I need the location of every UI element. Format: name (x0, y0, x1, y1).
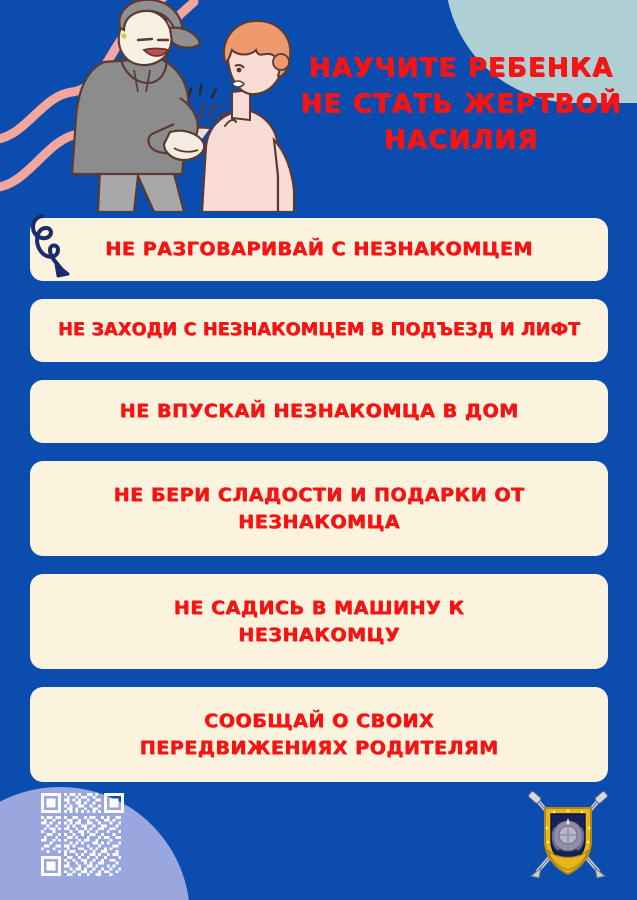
title-line-2: НЕ СТАТЬ ЖЕРТВОЙ (296, 86, 626, 122)
rule-1-line-1: НЕ РАЗГОВАРИВАЙ С НЕЗНАКОМЦЕМ (105, 236, 533, 263)
safety-poster: НАУЧИТЕ РЕБЕНКА НЕ СТАТЬ ЖЕРТВОЙ НАСИЛИЯ… (0, 0, 637, 900)
pink-wave-decoration (0, 0, 220, 215)
rule-6-line-1: СООБЩАЙ О СВОИХ (140, 708, 499, 735)
rule-5-line-1: НЕ САДИСЬ В МАШИНУ К (174, 595, 465, 622)
rule-card-3[interactable]: НЕ ВПУСКАЙ НЕЗНАКОМЦА В ДОМ (30, 380, 608, 443)
rule-6-line-2: ПЕРЕДВИЖЕНИЯХ РОДИТЕЛЯМ (140, 735, 499, 762)
rule-text-4: НЕ БЕРИ СЛАДОСТИ И ПОДАРКИ ОТ НЕЗНАКОМЦА (113, 482, 524, 536)
investigative-committee-emblem (521, 788, 615, 882)
rule-4-line-2: НЕЗНАКОМЦА (113, 509, 524, 536)
rule-card-2[interactable]: НЕ ЗАХОДИ С НЕЗНАКОМЦЕМ В ПОДЪЕЗД И ЛИФТ (30, 299, 608, 362)
rule-text-1: НЕ РАЗГОВАРИВАЙ С НЕЗНАКОМЦЕМ (105, 236, 533, 263)
title-line-3: НАСИЛИЯ (296, 122, 626, 158)
rule-card-1[interactable]: НЕ РАЗГОВАРИВАЙ С НЕЗНАКОМЦЕМ (30, 218, 608, 281)
rule-text-5: НЕ САДИСЬ В МАШИНУ К НЕЗНАКОМЦУ (174, 595, 465, 649)
rule-card-4[interactable]: НЕ БЕРИ СЛАДОСТИ И ПОДАРКИ ОТ НЕЗНАКОМЦА (30, 461, 608, 556)
title-line-1: НАУЧИТЕ РЕБЕНКА (296, 50, 626, 86)
rule-text-6: СООБЩАЙ О СВОИХ ПЕРЕДВИЖЕНИЯХ РОДИТЕЛЯМ (140, 708, 499, 762)
rule-card-6[interactable]: СООБЩАЙ О СВОИХ ПЕРЕДВИЖЕНИЯХ РОДИТЕЛЯМ (30, 687, 608, 782)
rule-text-3: НЕ ВПУСКАЙ НЕЗНАКОМЦА В ДОМ (119, 398, 518, 425)
rules-list: НЕ РАЗГОВАРИВАЙ С НЕЗНАКОМЦЕМ НЕ ЗАХОДИ … (30, 218, 608, 800)
rule-card-5[interactable]: НЕ САДИСЬ В МАШИНУ К НЕЗНАКОМЦУ (30, 574, 608, 669)
page-title: НАУЧИТЕ РЕБЕНКА НЕ СТАТЬ ЖЕРТВОЙ НАСИЛИЯ (296, 50, 626, 158)
rule-text-2: НЕ ЗАХОДИ С НЕЗНАКОМЦЕМ В ПОДЪЕЗД И ЛИФТ (58, 317, 580, 344)
rule-3-line-1: НЕ ВПУСКАЙ НЕЗНАКОМЦА В ДОМ (119, 398, 518, 425)
rule-5-line-2: НЕЗНАКОМЦУ (174, 622, 465, 649)
rule-2-line-1: НЕ ЗАХОДИ С НЕЗНАКОМЦЕМ В ПОДЪЕЗД И ЛИФТ (58, 317, 580, 344)
qr-code[interactable] (41, 793, 124, 876)
rule-4-line-1: НЕ БЕРИ СЛАДОСТИ И ПОДАРКИ ОТ (113, 482, 524, 509)
